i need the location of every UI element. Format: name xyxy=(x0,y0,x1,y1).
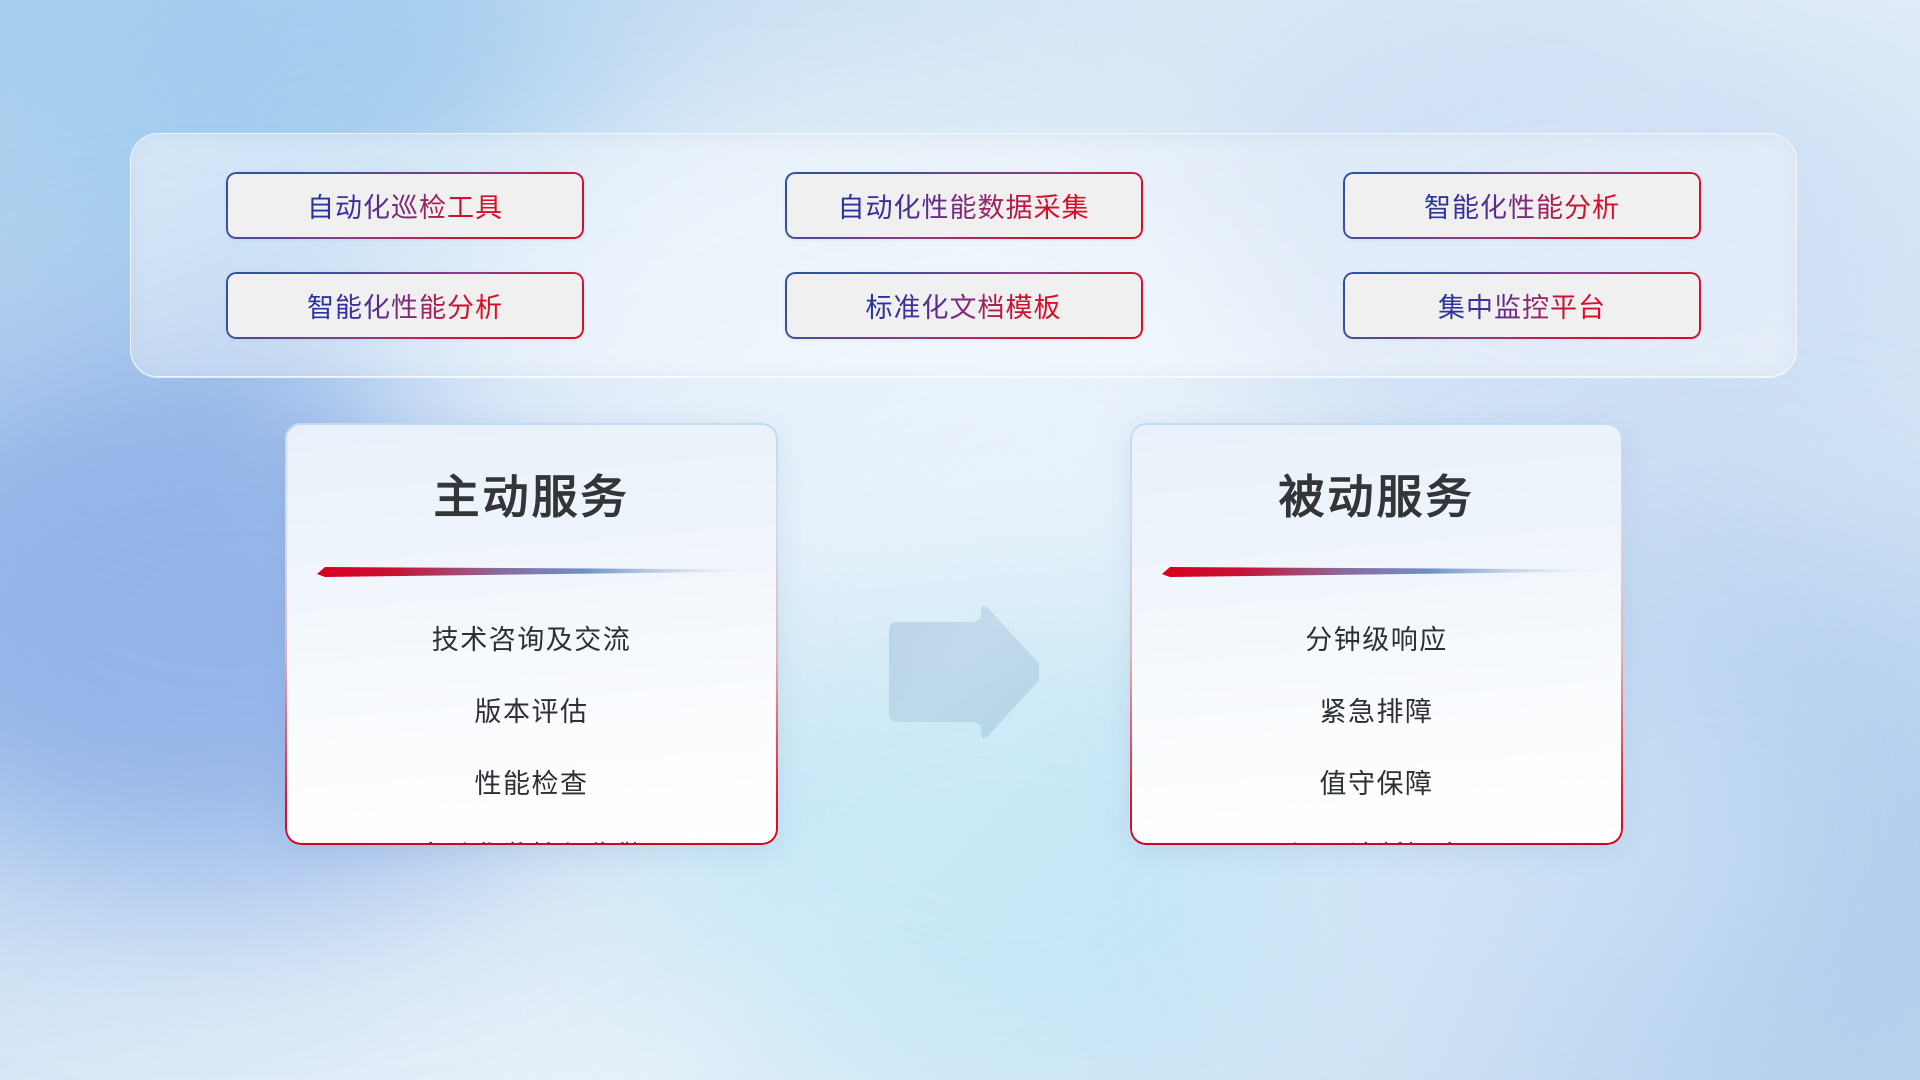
service-item[interactable]: 值守保障 xyxy=(1320,748,1434,820)
service-card-active[interactable]: 主动服务 技术咨询及交流 版本评估 性能检查 xyxy=(285,423,778,845)
capability-chip-label: 标准化文档模板 xyxy=(866,286,1062,325)
capability-chip-3[interactable]: 智能化性能分析 xyxy=(1343,172,1701,239)
card-divider xyxy=(317,565,747,578)
service-item[interactable]: 紧急排障 xyxy=(1320,676,1434,748)
capability-chips-panel: 自动化巡检工具 自动化性能数据采集 智能化性能分析 智能化性能分析 标准化文档模… xyxy=(130,133,1797,377)
capability-chip-6[interactable]: 集中监控平台 xyxy=(1343,272,1701,339)
service-card-surface: 被动服务 分钟级响应 紧急排障 值守保障 xyxy=(1130,423,1623,845)
service-card-passive[interactable]: 被动服务 分钟级响应 紧急排障 值守保障 xyxy=(1130,423,1623,845)
arrow-right-icon xyxy=(881,601,1039,743)
capability-chip-label: 自动化巡检工具 xyxy=(307,186,503,225)
capability-chip-label: 集中监控平台 xyxy=(1438,286,1606,325)
service-item[interactable]: 技术咨询及交流 xyxy=(432,604,632,676)
capability-chip-1[interactable]: 自动化巡检工具 xyxy=(226,172,584,239)
service-card-title: 被动服务 xyxy=(1130,461,1623,527)
capability-chip-grid: 自动化巡检工具 自动化性能数据采集 智能化性能分析 智能化性能分析 标准化文档模… xyxy=(131,134,1796,376)
service-card-title: 主动服务 xyxy=(285,461,778,527)
service-item[interactable]: 自动化监控与告警 xyxy=(418,820,646,845)
service-item[interactable]: 问题诊断解决 xyxy=(1291,820,1462,845)
service-item[interactable]: 版本评估 xyxy=(475,676,589,748)
card-divider xyxy=(1162,565,1592,578)
service-item[interactable]: 性能检查 xyxy=(475,748,589,820)
service-card-surface: 主动服务 技术咨询及交流 版本评估 性能检查 xyxy=(285,423,778,845)
service-item-list: 技术咨询及交流 版本评估 性能检查 自动化监控与告警 健康巡检 xyxy=(285,604,778,845)
capability-chip-4[interactable]: 智能化性能分析 xyxy=(226,272,584,339)
capability-chip-label: 自动化性能数据采集 xyxy=(838,186,1090,225)
capability-chip-label: 智能化性能分析 xyxy=(1424,186,1620,225)
capability-chip-5[interactable]: 标准化文档模板 xyxy=(785,272,1143,339)
capability-chip-label: 智能化性能分析 xyxy=(307,286,503,325)
capability-chip-2[interactable]: 自动化性能数据采集 xyxy=(785,172,1143,239)
service-item-list: 分钟级响应 紧急排障 值守保障 问题诊断解决 SLA式服务 xyxy=(1130,604,1623,845)
service-item[interactable]: 分钟级响应 xyxy=(1305,604,1448,676)
